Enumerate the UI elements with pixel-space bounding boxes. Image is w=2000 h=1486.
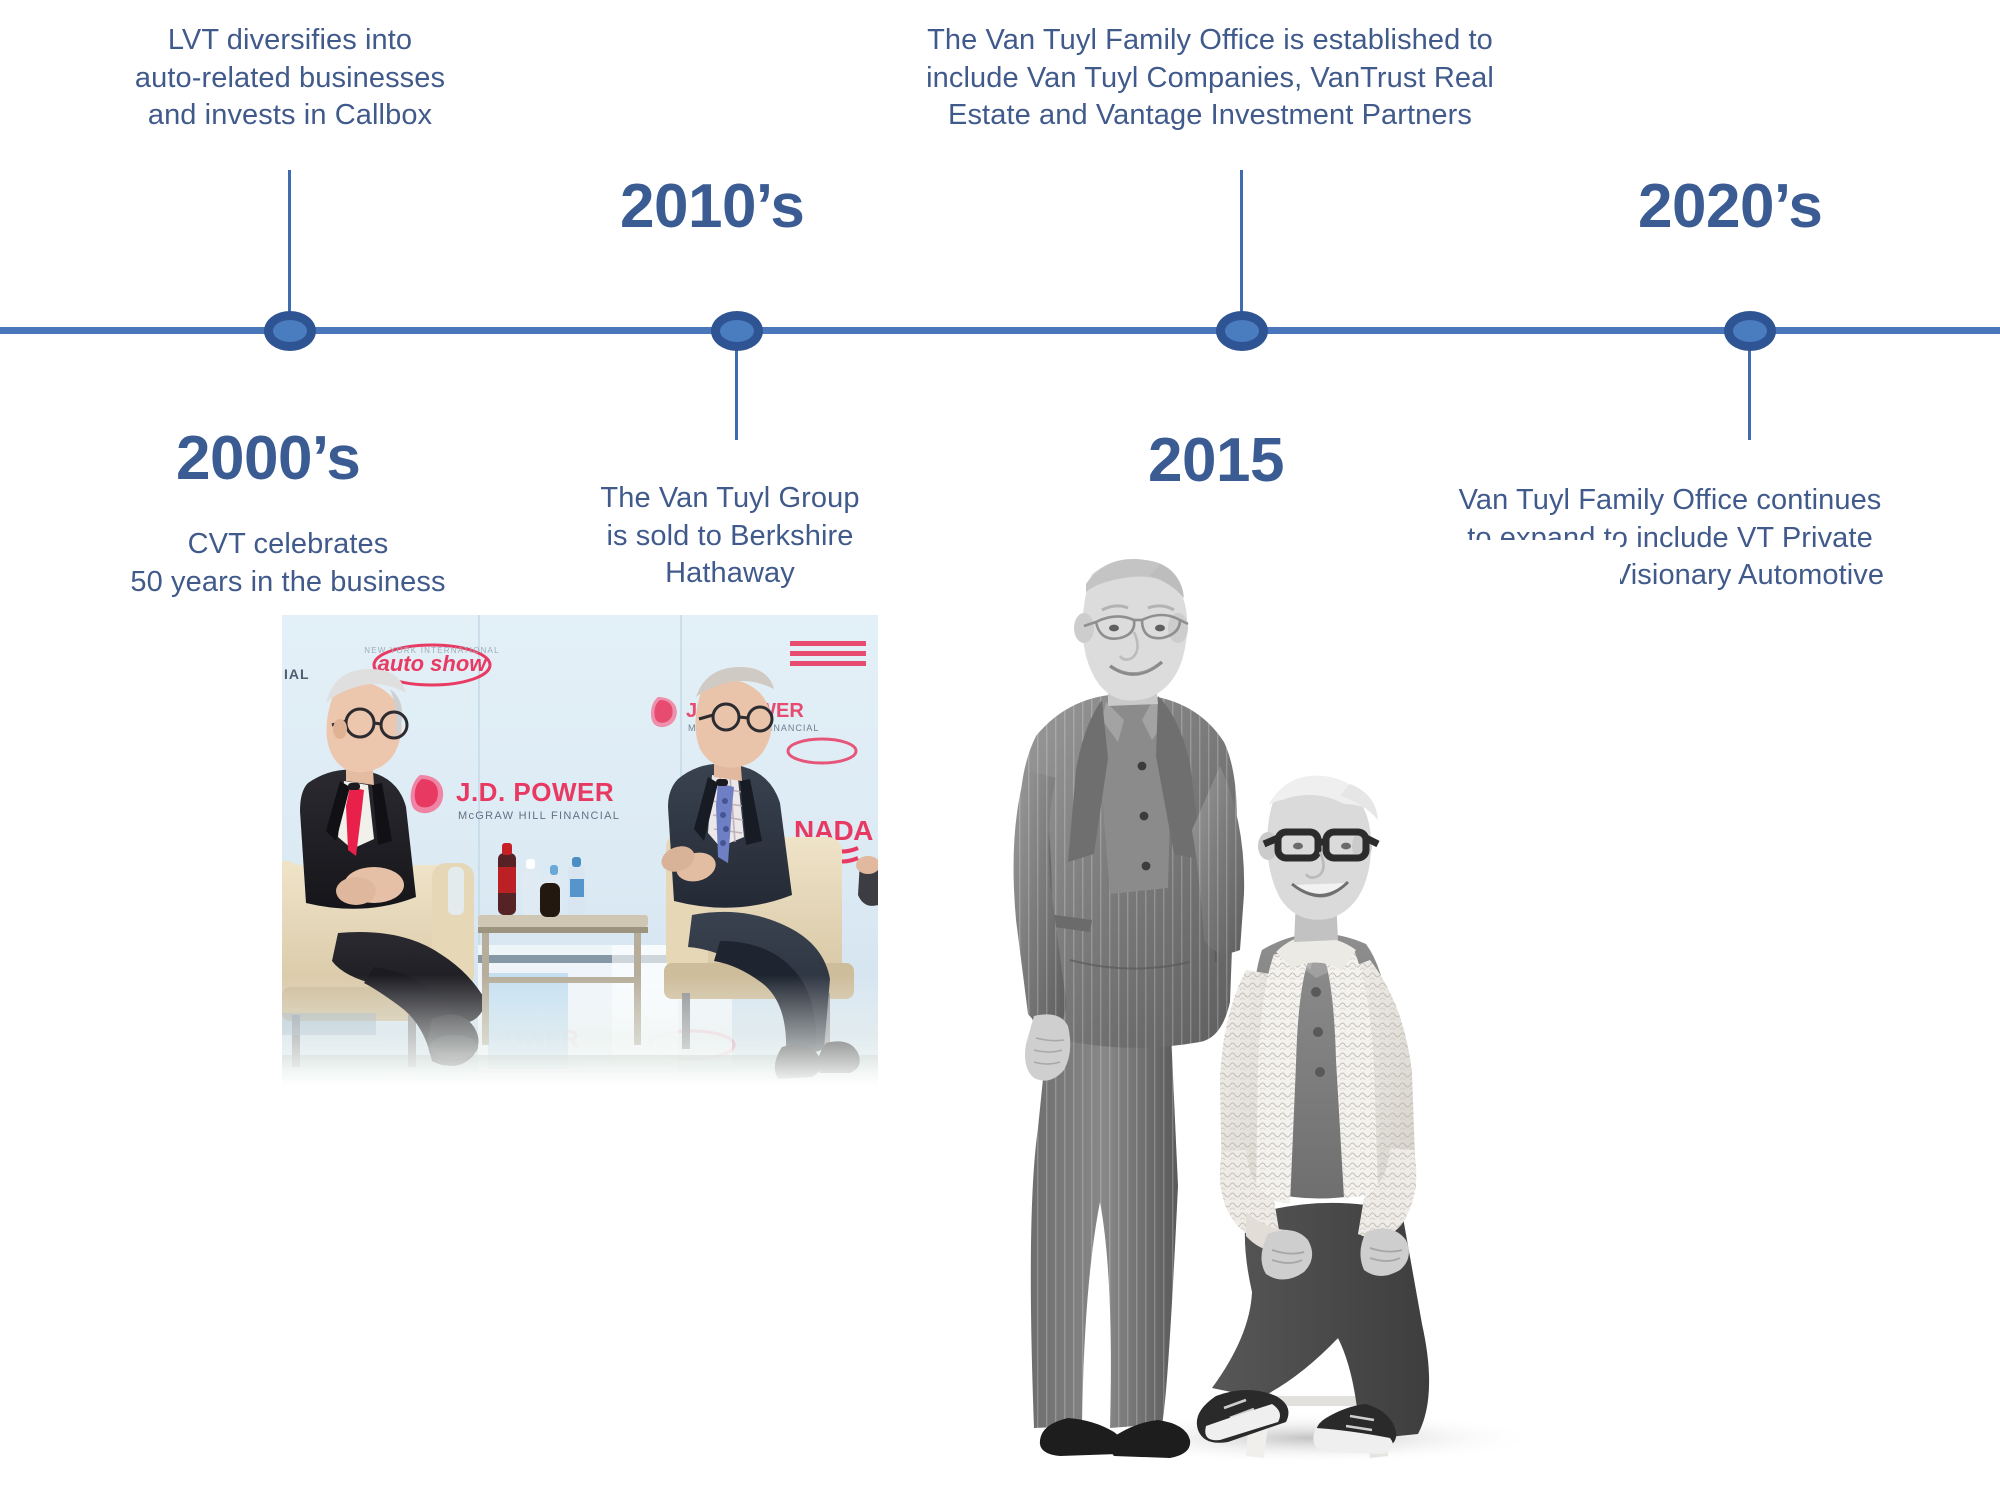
era-heading-2000s: 2000’s: [176, 428, 360, 490]
event-line: The Van Tuyl Family Office is establishe…: [880, 22, 1540, 60]
era-heading-2015: 2015: [1148, 430, 1284, 492]
timeline-node-2020s[interactable]: [1724, 311, 1776, 351]
event-line: The Van Tuyl Group: [570, 480, 890, 518]
event-line: CVT celebrates: [88, 526, 488, 564]
photo-backdrop-logo-main: J.D. POWER: [456, 777, 614, 807]
era-heading-2020s: 2020’s: [1638, 176, 1822, 238]
event-text-lvt-diversifies: LVT diversifies into auto-related busine…: [80, 22, 500, 135]
tick-stem-2015: [1240, 170, 1243, 330]
event-line: Van Tuyl Family Office continues: [1420, 482, 1920, 520]
photo-backdrop-logo-sub: McGRAW HILL FINANCIAL: [458, 810, 620, 822]
tick-stem-2000s: [288, 170, 291, 330]
event-line: is sold to Berkshire: [570, 518, 890, 556]
event-line: 50 years in the business: [88, 564, 488, 602]
event-text-berkshire-sale: The Van Tuyl Group is sold to Berkshire …: [570, 480, 890, 593]
photo-jd-power-panel: NEW YORK INTERNATIONAL auto show IAL J.D…: [282, 615, 878, 1085]
timeline-infographic: 2010’s 2020’s 2000’s 2015 LVT diversifie…: [0, 0, 2000, 1486]
event-line: and invests in Callbox: [80, 97, 500, 135]
photo-backdrop-logo-partial-left: IAL: [284, 666, 310, 682]
event-line: include Van Tuyl Companies, VanTrust Rea…: [880, 60, 1540, 98]
photo-two-men-portrait-svg: [1010, 540, 1620, 1470]
event-line: Hathaway: [570, 555, 890, 593]
photo-two-men-portrait: [1010, 540, 1620, 1470]
event-text-family-office-established: The Van Tuyl Family Office is establishe…: [880, 22, 1540, 135]
event-line: auto-related businesses: [80, 60, 500, 98]
photo-jd-power-panel-svg: NEW YORK INTERNATIONAL auto show IAL J.D…: [282, 615, 878, 1085]
timeline-node-2010s[interactable]: [711, 311, 763, 351]
event-line: LVT diversifies into: [80, 22, 500, 60]
timeline-node-2015[interactable]: [1216, 311, 1268, 351]
timeline-node-2000s[interactable]: [264, 311, 316, 351]
event-text-cvt-50-years: CVT celebrates 50 years in the business: [88, 526, 488, 601]
era-heading-2010s: 2010’s: [620, 176, 804, 238]
photo-backdrop-logo-top: auto show: [378, 651, 489, 676]
event-line: Estate and Vantage Investment Partners: [880, 97, 1540, 135]
